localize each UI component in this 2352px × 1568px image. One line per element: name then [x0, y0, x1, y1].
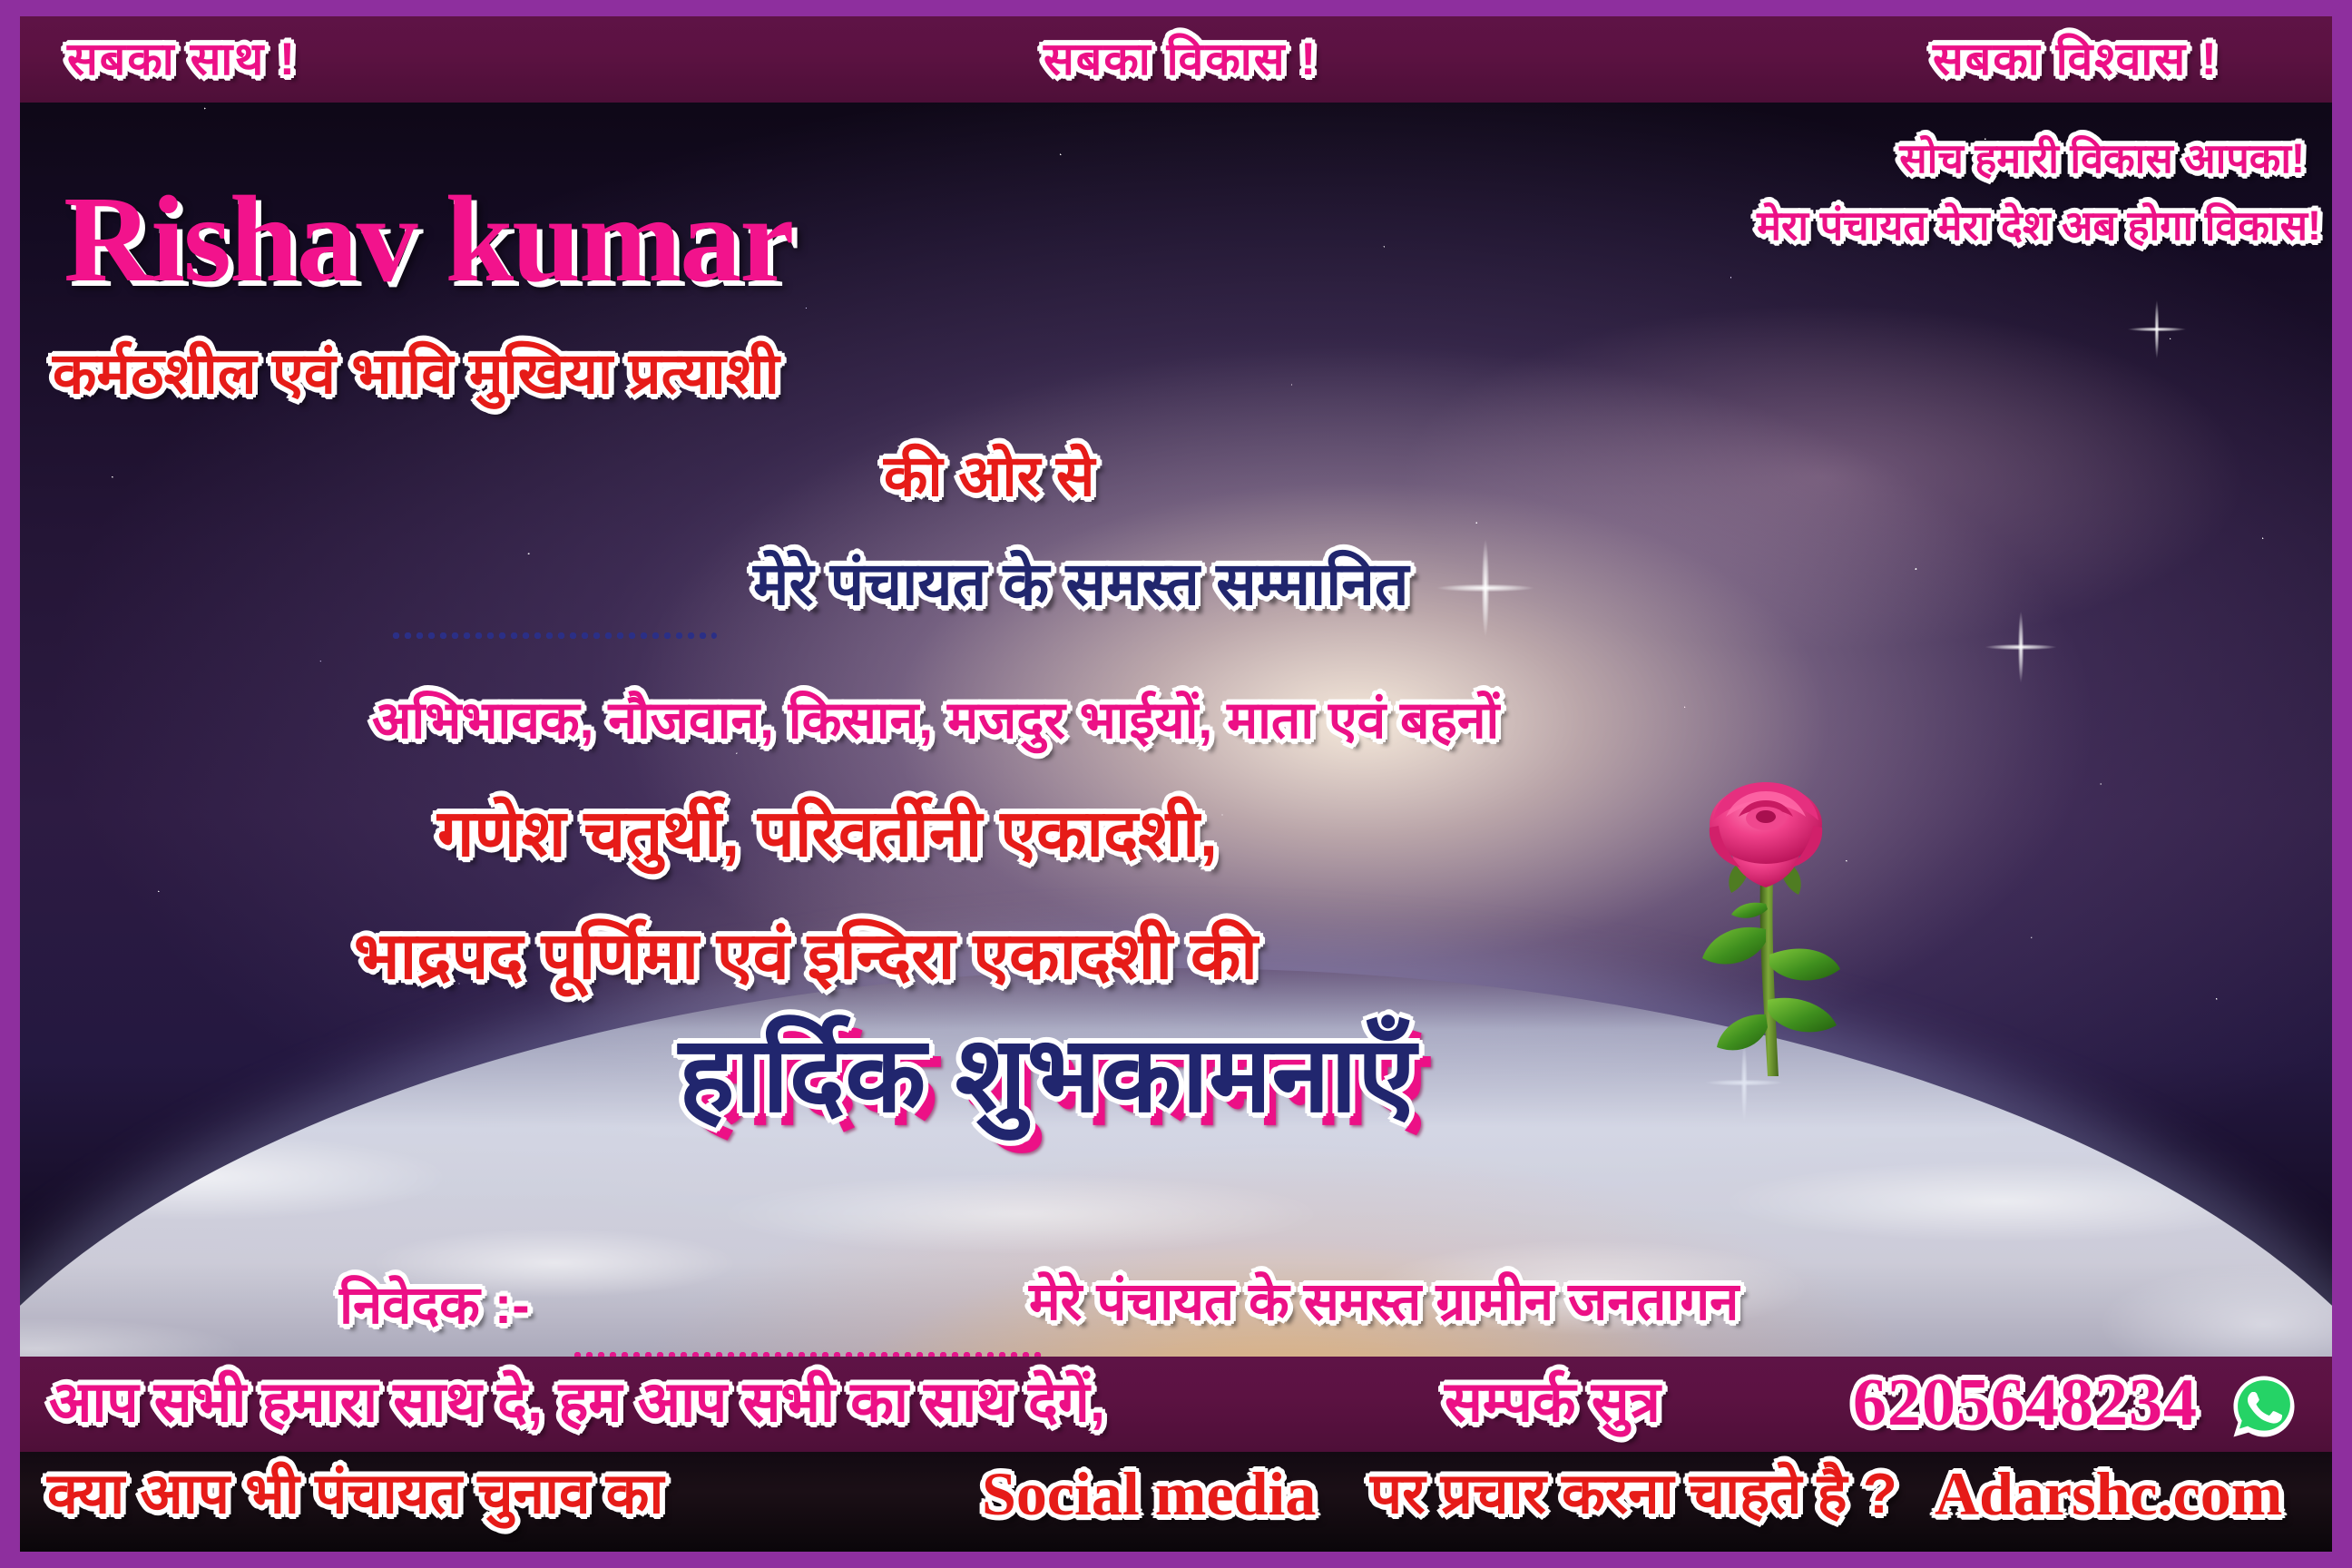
sender-label: निवेदक :- — [339, 1279, 530, 1332]
candidate-name: Rishav kumar — [64, 178, 793, 301]
slogan-sabka-saath: सबका साथ ! — [67, 36, 297, 82]
poster-inner-frame: सबका साथ ! सबका विकास ! सबका विश्वास ! स… — [20, 16, 2332, 1552]
whatsapp-icon[interactable] — [2230, 1373, 2298, 1445]
addressee-dotted-rule-1 — [390, 632, 717, 639]
sender-value: मेरे पंचायत के समस्त ग्रामीन जनतागन — [1029, 1276, 1739, 1328]
footer-contact-label: सम्पर्क सुत्र — [1445, 1375, 1661, 1431]
promo-website[interactable]: Adarshc.com — [1935, 1463, 2282, 1524]
slogan-sabka-vikas: सबका विकास ! — [1044, 36, 1318, 82]
wish-heading: हार्दिक शुभकामनाएँ — [679, 1022, 1416, 1127]
footer-support-band: आप सभी हमारा साथ दे, हम आप सभी का साथ दे… — [20, 1357, 2332, 1452]
election-greeting-poster: सबका साथ ! सबका विकास ! सबका विश्वास ! स… — [0, 0, 2352, 1568]
rose-flower-graphic — [1690, 777, 1898, 1131]
addressee-line2: अभिभावक, नौजवान, किसान, मजदुर भाईयों, मा… — [372, 695, 1499, 747]
footer-support-text: आप सभी हमारा साथ दे, हम आप सभी का साथ दे… — [49, 1375, 1105, 1431]
top-slogan-band: सबका साथ ! सबका विकास ! सबका विश्वास ! — [20, 16, 2332, 103]
footer-promo-band: क्या आप भी पंचायत चुनाव का Social media … — [20, 1452, 2332, 1552]
festival-line1: गणेश चतुर्थी, परिवर्तीनी एकादशी, — [437, 801, 1218, 867]
corner-tagline-line2: मेरा पंचायत मेरा देश अब होगा विकास! — [1757, 205, 2321, 246]
corner-tagline-line1: सोच हमारी विकास आपका! — [1899, 138, 2305, 179]
candidate-role-line1: कर्मठशील एवं भावि मुखिया प्रत्याशी — [53, 346, 779, 403]
festival-line2: भाद्रपद पूर्णिमा एवं इन्दिरा एकादशी की — [354, 924, 1258, 989]
promo-text-hindi-2: पर प्रचार करना चाहते है ? — [1370, 1466, 1897, 1523]
promo-text-social-media: Social media — [982, 1463, 1316, 1524]
addressee-line1: मेरे पंचायत के समस्त सम्मानित — [753, 554, 1409, 613]
slogan-sabka-vishwas: सबका विश्वास ! — [1933, 36, 2219, 82]
promo-text-hindi-1: क्या आप भी पंचायत चुनाव का — [47, 1466, 663, 1523]
footer-phone-number[interactable]: 6205648234 — [1853, 1369, 2198, 1436]
candidate-role-line2: की ओर से — [884, 448, 1095, 505]
